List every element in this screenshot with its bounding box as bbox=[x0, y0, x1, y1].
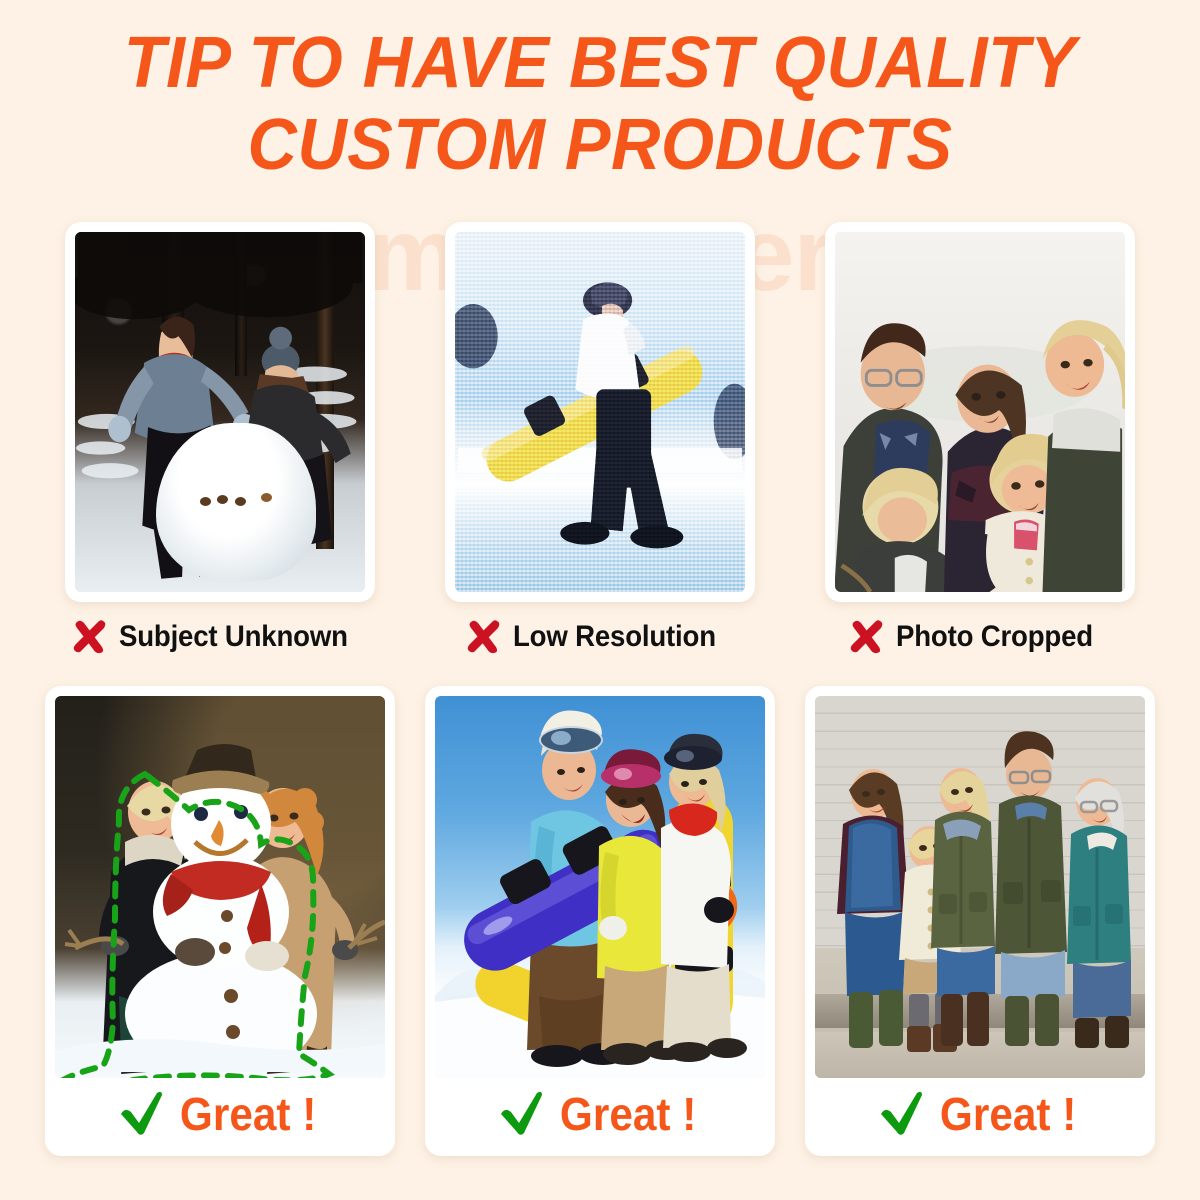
caption-row: Photo Cropped bbox=[790, 618, 1170, 656]
photo-cropped-family-portrait bbox=[835, 232, 1125, 592]
check-mark-icon bbox=[498, 1090, 544, 1138]
example-cell-great-snowman: Great ! bbox=[30, 686, 410, 1166]
photo-card[interactable] bbox=[65, 222, 375, 602]
photo-two-women-with-snowman-outlined bbox=[55, 696, 385, 1078]
caption-label: Subject Unknown bbox=[119, 620, 348, 654]
verdict-label: Great ! bbox=[940, 1087, 1076, 1141]
page-title-line-2: CUSTOM PRODUCTS bbox=[30, 104, 1170, 186]
page-title-line-1: TIP TO HAVE BEST QUALITY bbox=[30, 22, 1170, 104]
x-mark-icon bbox=[467, 618, 501, 656]
example-cell-low-resolution: Low Resolution bbox=[410, 222, 790, 674]
caption-label: Low Resolution bbox=[513, 620, 716, 654]
example-cell-great-snowboarders: Great ! bbox=[410, 686, 790, 1166]
x-mark-icon bbox=[73, 618, 107, 656]
page-title: TIP TO HAVE BEST QUALITY CUSTOM PRODUCTS bbox=[0, 22, 1200, 186]
photo-pixelated-snowboarder bbox=[455, 232, 745, 592]
caption-row: Subject Unknown bbox=[30, 618, 410, 656]
verdict-row: Great ! bbox=[55, 1078, 385, 1150]
photo-card[interactable]: Great ! bbox=[425, 686, 775, 1156]
verdict-row: Great ! bbox=[435, 1078, 765, 1150]
photo-card[interactable]: Great ! bbox=[805, 686, 1155, 1156]
photo-two-women-building-snowman-in-dark-forest bbox=[75, 232, 365, 592]
verdict-row: Great ! bbox=[815, 1078, 1145, 1150]
example-cell-subject-unknown: Subject Unknown bbox=[30, 222, 410, 674]
verdict-label: Great ! bbox=[560, 1087, 696, 1141]
photo-card[interactable]: Great ! bbox=[45, 686, 395, 1156]
caption-row: Low Resolution bbox=[410, 618, 790, 656]
check-mark-icon bbox=[878, 1090, 924, 1138]
verdict-label: Great ! bbox=[180, 1087, 316, 1141]
example-cell-photo-cropped: Photo Cropped bbox=[790, 222, 1170, 674]
photo-family-of-five-at-barn-wall bbox=[815, 696, 1145, 1078]
x-mark-icon bbox=[850, 618, 884, 656]
caption-label: Photo Cropped bbox=[896, 620, 1093, 654]
photo-card[interactable] bbox=[445, 222, 755, 602]
example-cell-great-family: Great ! bbox=[790, 686, 1170, 1166]
photo-three-snowboarders-on-mountain bbox=[435, 696, 765, 1078]
check-mark-icon bbox=[118, 1090, 164, 1138]
examples-grid: Subject Unknown bbox=[0, 222, 1200, 1166]
photo-card[interactable] bbox=[825, 222, 1135, 602]
